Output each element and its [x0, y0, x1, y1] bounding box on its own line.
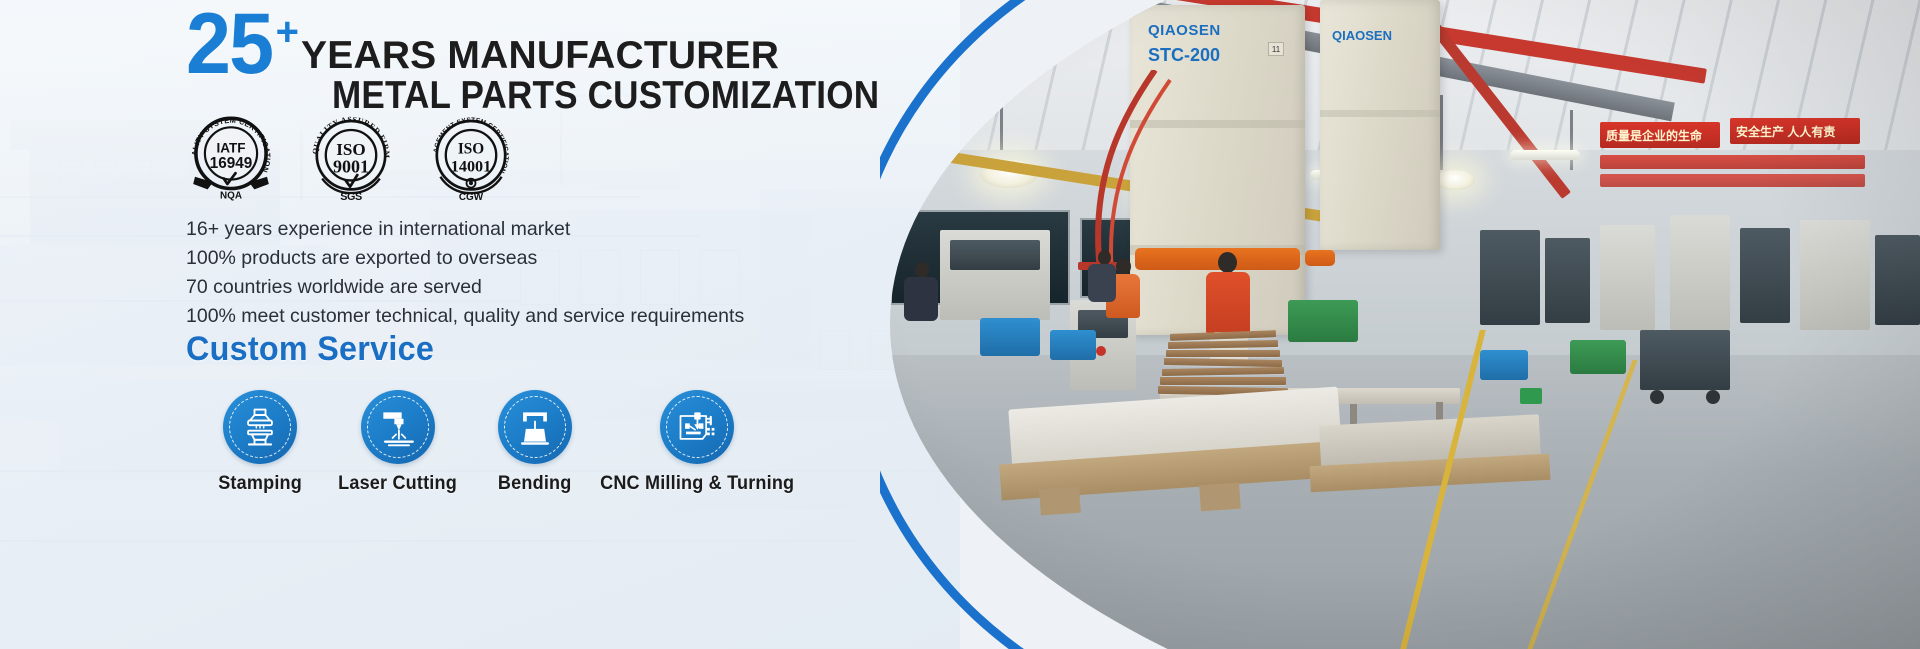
- iso-9001-seal-icon: QUALITY ASSURED FIRM ISO 9001 SGS: [306, 112, 396, 202]
- factory-photo-panel: 质量是企业的生命 安全生产 人人有责 QIAOSEN STC-200 11 QI…: [880, 0, 1920, 649]
- iatf-16949-seal-icon: QUALITY SYSTEM CERTIFICATION IATF 16949 …: [186, 112, 276, 202]
- svg-text:16949: 16949: [210, 155, 253, 172]
- svg-text:9001: 9001: [333, 156, 369, 176]
- service-circle-stamping[interactable]: [223, 390, 297, 464]
- badge-iso-14001: MANAGEMENT SYSTEM CERTIFICATION ISO 1400…: [426, 112, 516, 202]
- bullet-item: 16+ years experience in international ma…: [186, 215, 744, 244]
- service-label-bending: Bending: [498, 473, 572, 495]
- service-item-bending[interactable]: Bending: [472, 390, 597, 495]
- svg-text:14001: 14001: [451, 157, 491, 175]
- service-item-laser-cutting[interactable]: Laser Cutting: [324, 390, 472, 495]
- plus-sign: +: [276, 12, 299, 52]
- headline-block: 25 + YEARS MANUFACTURER METAL PARTS CUST…: [186, 8, 886, 117]
- headline-line-1: YEARS MANUFACTURER: [301, 34, 779, 77]
- bullet-item: 70 countries worldwide are served: [186, 273, 744, 302]
- iso-14001-seal-icon: MANAGEMENT SYSTEM CERTIFICATION ISO 1400…: [426, 112, 516, 202]
- svg-text:CGW: CGW: [459, 192, 484, 202]
- service-label-stamping: Stamping: [218, 473, 302, 495]
- service-circle-laser-cutting[interactable]: [361, 390, 435, 464]
- left-content-panel: 25 + YEARS MANUFACTURER METAL PARTS CUST…: [0, 0, 960, 649]
- feature-bullets: 16+ years experience in international ma…: [186, 215, 744, 330]
- stamping-press-icon: [238, 405, 282, 449]
- bending-sheet-icon: [513, 405, 557, 449]
- years-number: 25: [186, 8, 272, 82]
- badge-iatf-16949: QUALITY SYSTEM CERTIFICATION IATF 16949 …: [186, 112, 276, 202]
- service-label-cnc: CNC Milling & Turning: [600, 473, 794, 495]
- promo-banner: 25 + YEARS MANUFACTURER METAL PARTS CUST…: [0, 0, 1920, 649]
- service-label-laser-cutting: Laser Cutting: [339, 473, 458, 495]
- service-item-stamping[interactable]: Stamping: [196, 390, 324, 495]
- laser-cutting-icon: [376, 405, 420, 449]
- custom-service-items: Stamping: [196, 390, 797, 495]
- service-item-cnc[interactable]: CNC Milling & Turning: [597, 390, 797, 495]
- svg-text:IATF: IATF: [217, 141, 246, 156]
- cnc-machine-icon: [675, 405, 719, 449]
- headline-line-2: METAL PARTS CUSTOMIZATION: [332, 76, 831, 117]
- svg-text:ISO: ISO: [458, 140, 484, 157]
- svg-text:NQA: NQA: [220, 190, 242, 201]
- service-circle-bending[interactable]: [498, 390, 572, 464]
- badge-iso-9001: QUALITY ASSURED FIRM ISO 9001 SGS SGS: [306, 112, 396, 202]
- svg-text:SGS: SGS: [340, 191, 362, 202]
- bullet-item: 100% meet customer technical, quality an…: [186, 302, 744, 331]
- certification-badges: QUALITY SYSTEM CERTIFICATION IATF 16949 …: [186, 112, 516, 202]
- bullet-item: 100% products are exported to overseas: [186, 244, 744, 273]
- custom-service-title: Custom Service: [186, 330, 434, 369]
- service-circle-cnc[interactable]: [660, 390, 734, 464]
